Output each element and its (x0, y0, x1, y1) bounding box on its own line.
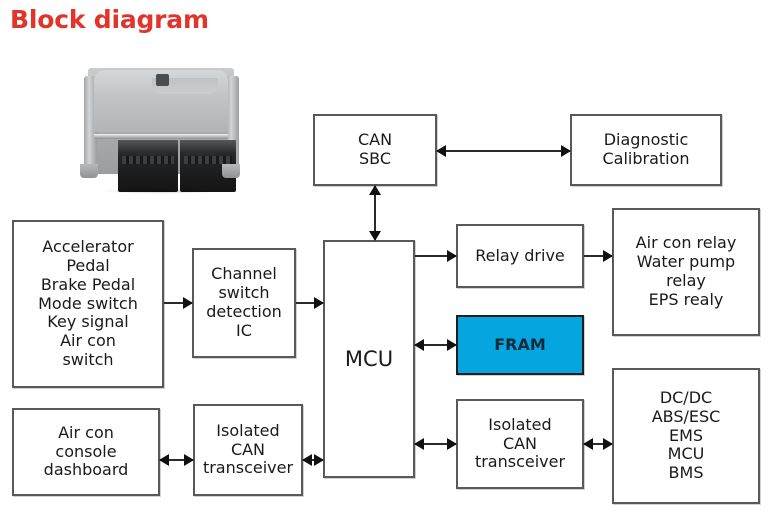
ecu-foot-right (222, 164, 240, 178)
block-diagram-canvas: Block diagram CAN SBC Diagnostic Calibra… (0, 0, 774, 513)
block-fram[interactable]: FRAM (456, 315, 584, 375)
ecu-pin-row (122, 156, 174, 164)
block-isolated-can-transceiver-left[interactable]: Isolated CAN transceiver (193, 404, 303, 496)
ecu-knob (156, 74, 169, 86)
arrowhead-down (369, 231, 381, 241)
arrowhead-left (159, 454, 169, 466)
ecu-connector-top (118, 140, 178, 152)
arrowhead-right (447, 339, 457, 351)
ecu-module-photo (70, 60, 250, 200)
connector-mcu-to-isolated-can-right (415, 437, 456, 451)
arrowhead-right (447, 438, 457, 450)
block-can-sbc[interactable]: CAN SBC (313, 114, 437, 186)
connector-relay-drive-to-relay-outputs (584, 249, 612, 263)
arrowhead-right (183, 297, 193, 309)
block-label: Accelerator Pedal Brake Pedal Mode switc… (38, 238, 138, 370)
block-bus-nodes[interactable]: DC/DC ABS/ESC EMS MCU BMS (612, 368, 760, 504)
page-title: Block diagram (10, 5, 209, 34)
block-relay-outputs[interactable]: Air con relay Water pump relay EPS realy (612, 208, 760, 336)
block-channel-switch-detection-ic[interactable]: Channel switch detection IC (192, 248, 296, 358)
block-label: Channel switch detection IC (206, 265, 282, 341)
block-label: Diagnostic Calibration (602, 131, 689, 169)
block-label: Isolated CAN transceiver (203, 422, 293, 479)
block-input-signals[interactable]: Accelerator Pedal Brake Pedal Mode switc… (12, 220, 164, 388)
ecu-connector-top (180, 140, 236, 152)
connector-mcu-to-can-sbc (368, 186, 382, 240)
block-diagnostic-calibration[interactable]: Diagnostic Calibration (570, 114, 722, 186)
arrowhead-left (414, 339, 424, 351)
block-relay-drive[interactable]: Relay drive (456, 224, 584, 288)
block-label: Isolated CAN transceiver (475, 416, 565, 473)
connector-channel-switch-to-mcu (296, 296, 323, 310)
block-mcu[interactable]: MCU (323, 240, 415, 478)
ecu-pin-row (184, 156, 232, 164)
connector-isolated-can-right-to-bus-nodes (584, 437, 612, 451)
arrowhead-right (561, 145, 571, 157)
block-label: Air con relay Water pump relay EPS realy (636, 234, 737, 310)
ecu-connector-left (118, 140, 178, 192)
block-air-con-console-dashboard[interactable]: Air con console dashboard (12, 408, 160, 496)
block-label: MCU (345, 347, 393, 372)
block-label: DC/DC ABS/ESC EMS MCU BMS (652, 389, 721, 483)
arrowhead-right (314, 454, 324, 466)
arrowhead-right (447, 250, 457, 262)
block-label: Relay drive (475, 247, 565, 266)
block-label: FRAM (494, 336, 546, 355)
connector-line (437, 150, 570, 152)
connector-inputs-to-channel-switch (164, 296, 192, 310)
ecu-foot-left (80, 164, 98, 178)
ecu-shadow (100, 188, 222, 194)
block-label: CAN SBC (358, 131, 392, 169)
arrowhead-right (184, 454, 194, 466)
arrowhead-right (603, 438, 613, 450)
connector-isolated-can-left-to-air-con-console (160, 453, 193, 467)
connector-can-sbc-to-diagnostic (437, 144, 570, 158)
connector-mcu-to-relay-drive (415, 249, 456, 263)
arrowhead-left (414, 438, 424, 450)
block-label: Air con console dashboard (44, 424, 129, 481)
arrowhead-left (583, 438, 593, 450)
arrowhead-right (314, 297, 324, 309)
connector-mcu-to-isolated-can-left (303, 453, 323, 467)
block-isolated-can-transceiver-right[interactable]: Isolated CAN transceiver (456, 399, 584, 489)
arrowhead-up (369, 185, 381, 195)
arrowhead-left (436, 145, 446, 157)
ecu-seam (94, 134, 228, 139)
arrowhead-left (302, 454, 312, 466)
connector-mcu-to-fram (415, 338, 456, 352)
arrowhead-right (603, 250, 613, 262)
